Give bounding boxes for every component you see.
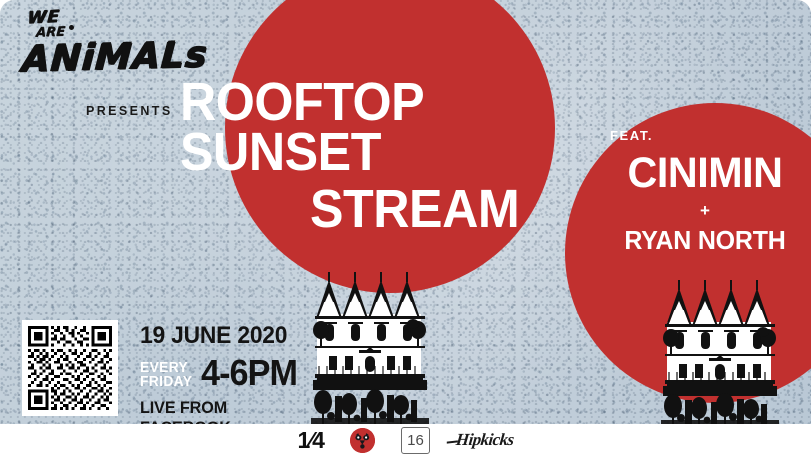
event-time-row: EVERY FRIDAY 4-6PM [140, 352, 315, 394]
title-line-2: STREAM [310, 185, 561, 235]
plus-separator: + [600, 201, 810, 221]
headline-artist: CINIMIN [604, 149, 806, 198]
qr-code[interactable] [22, 320, 118, 416]
recurrence-line-2: FRIDAY [140, 375, 192, 389]
event-date: 19 JUNE 2020 [140, 322, 306, 350]
sixteen-logo[interactable]: 16 [401, 427, 430, 454]
support-artist: RYAN NORTH [604, 225, 806, 256]
quarter-logo[interactable]: 1⁄4 [298, 429, 324, 452]
brand-logo-line-animals: ANiMALs [21, 38, 194, 78]
feat-label: FEAT. [610, 128, 810, 143]
building-illustration-icon [305, 258, 435, 426]
title-line-1: ROOFTOP SUNSET [180, 78, 552, 177]
brand-logo-line-we: WE [27, 2, 193, 28]
animal-badge-icon [350, 428, 375, 453]
brand-logo-dot [69, 25, 74, 30]
featured-artists: FEAT. CINIMIN + RYAN NORTH [600, 128, 810, 256]
event-flyer: WE ARE ANiMALs PRESENTS ROOFTOP SUNSET S… [0, 0, 811, 456]
hipkicks-logo[interactable]: Hipkicks [455, 430, 515, 450]
event-time: 4-6PM [201, 352, 297, 394]
presents-label: PRESENTS [86, 104, 173, 118]
building-illustration-right [655, 268, 785, 428]
sponsor-logo-strip: 1⁄4 16 Hipkicks [0, 424, 811, 456]
brand-logo: WE ARE ANiMALs [22, 6, 192, 76]
building-illustration-center [305, 258, 435, 426]
page-title: ROOFTOP SUNSET STREAM [180, 78, 580, 235]
building-illustration-icon [655, 268, 785, 428]
qr-code-icon [28, 326, 112, 410]
event-recurrence: EVERY FRIDAY [140, 357, 197, 390]
event-details: 19 JUNE 2020 EVERY FRIDAY 4-6PM LIVE FRO… [140, 322, 315, 438]
animal-badge-logo[interactable] [350, 428, 375, 453]
